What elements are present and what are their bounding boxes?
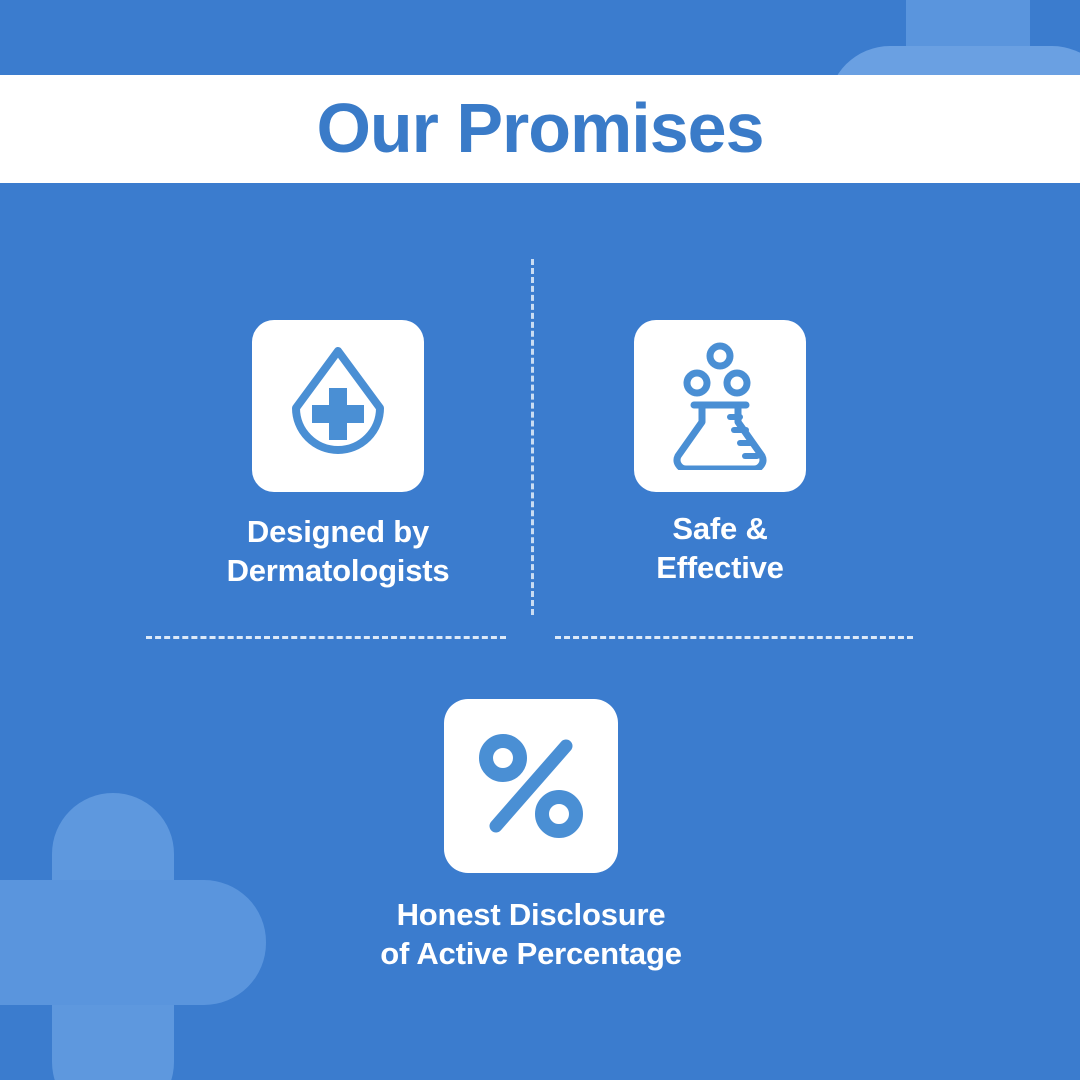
erlenmeyer-flask-icon bbox=[664, 342, 776, 470]
page-title: Our Promises bbox=[316, 93, 763, 163]
icon-card bbox=[252, 320, 424, 492]
promise-label: Honest Disclosure of Active Percentage bbox=[380, 895, 682, 973]
water-drop-plus-icon bbox=[279, 345, 397, 467]
promise-label: Designed by Dermatologists bbox=[227, 512, 450, 590]
promise-item-safe-and-effective: Safe & Effective bbox=[560, 320, 880, 587]
promises-infographic: Our Promises Designed by Dermatologists bbox=[0, 0, 1080, 1080]
icon-card bbox=[634, 320, 806, 492]
percent-icon bbox=[478, 733, 584, 839]
title-banner: Our Promises bbox=[0, 75, 1080, 183]
icon-card bbox=[444, 699, 618, 873]
promise-item-honest-disclosure: Honest Disclosure of Active Percentage bbox=[371, 699, 691, 973]
promise-label: Safe & Effective bbox=[656, 509, 783, 587]
promise-item-designed-by-dermatologists: Designed by Dermatologists bbox=[178, 320, 498, 590]
